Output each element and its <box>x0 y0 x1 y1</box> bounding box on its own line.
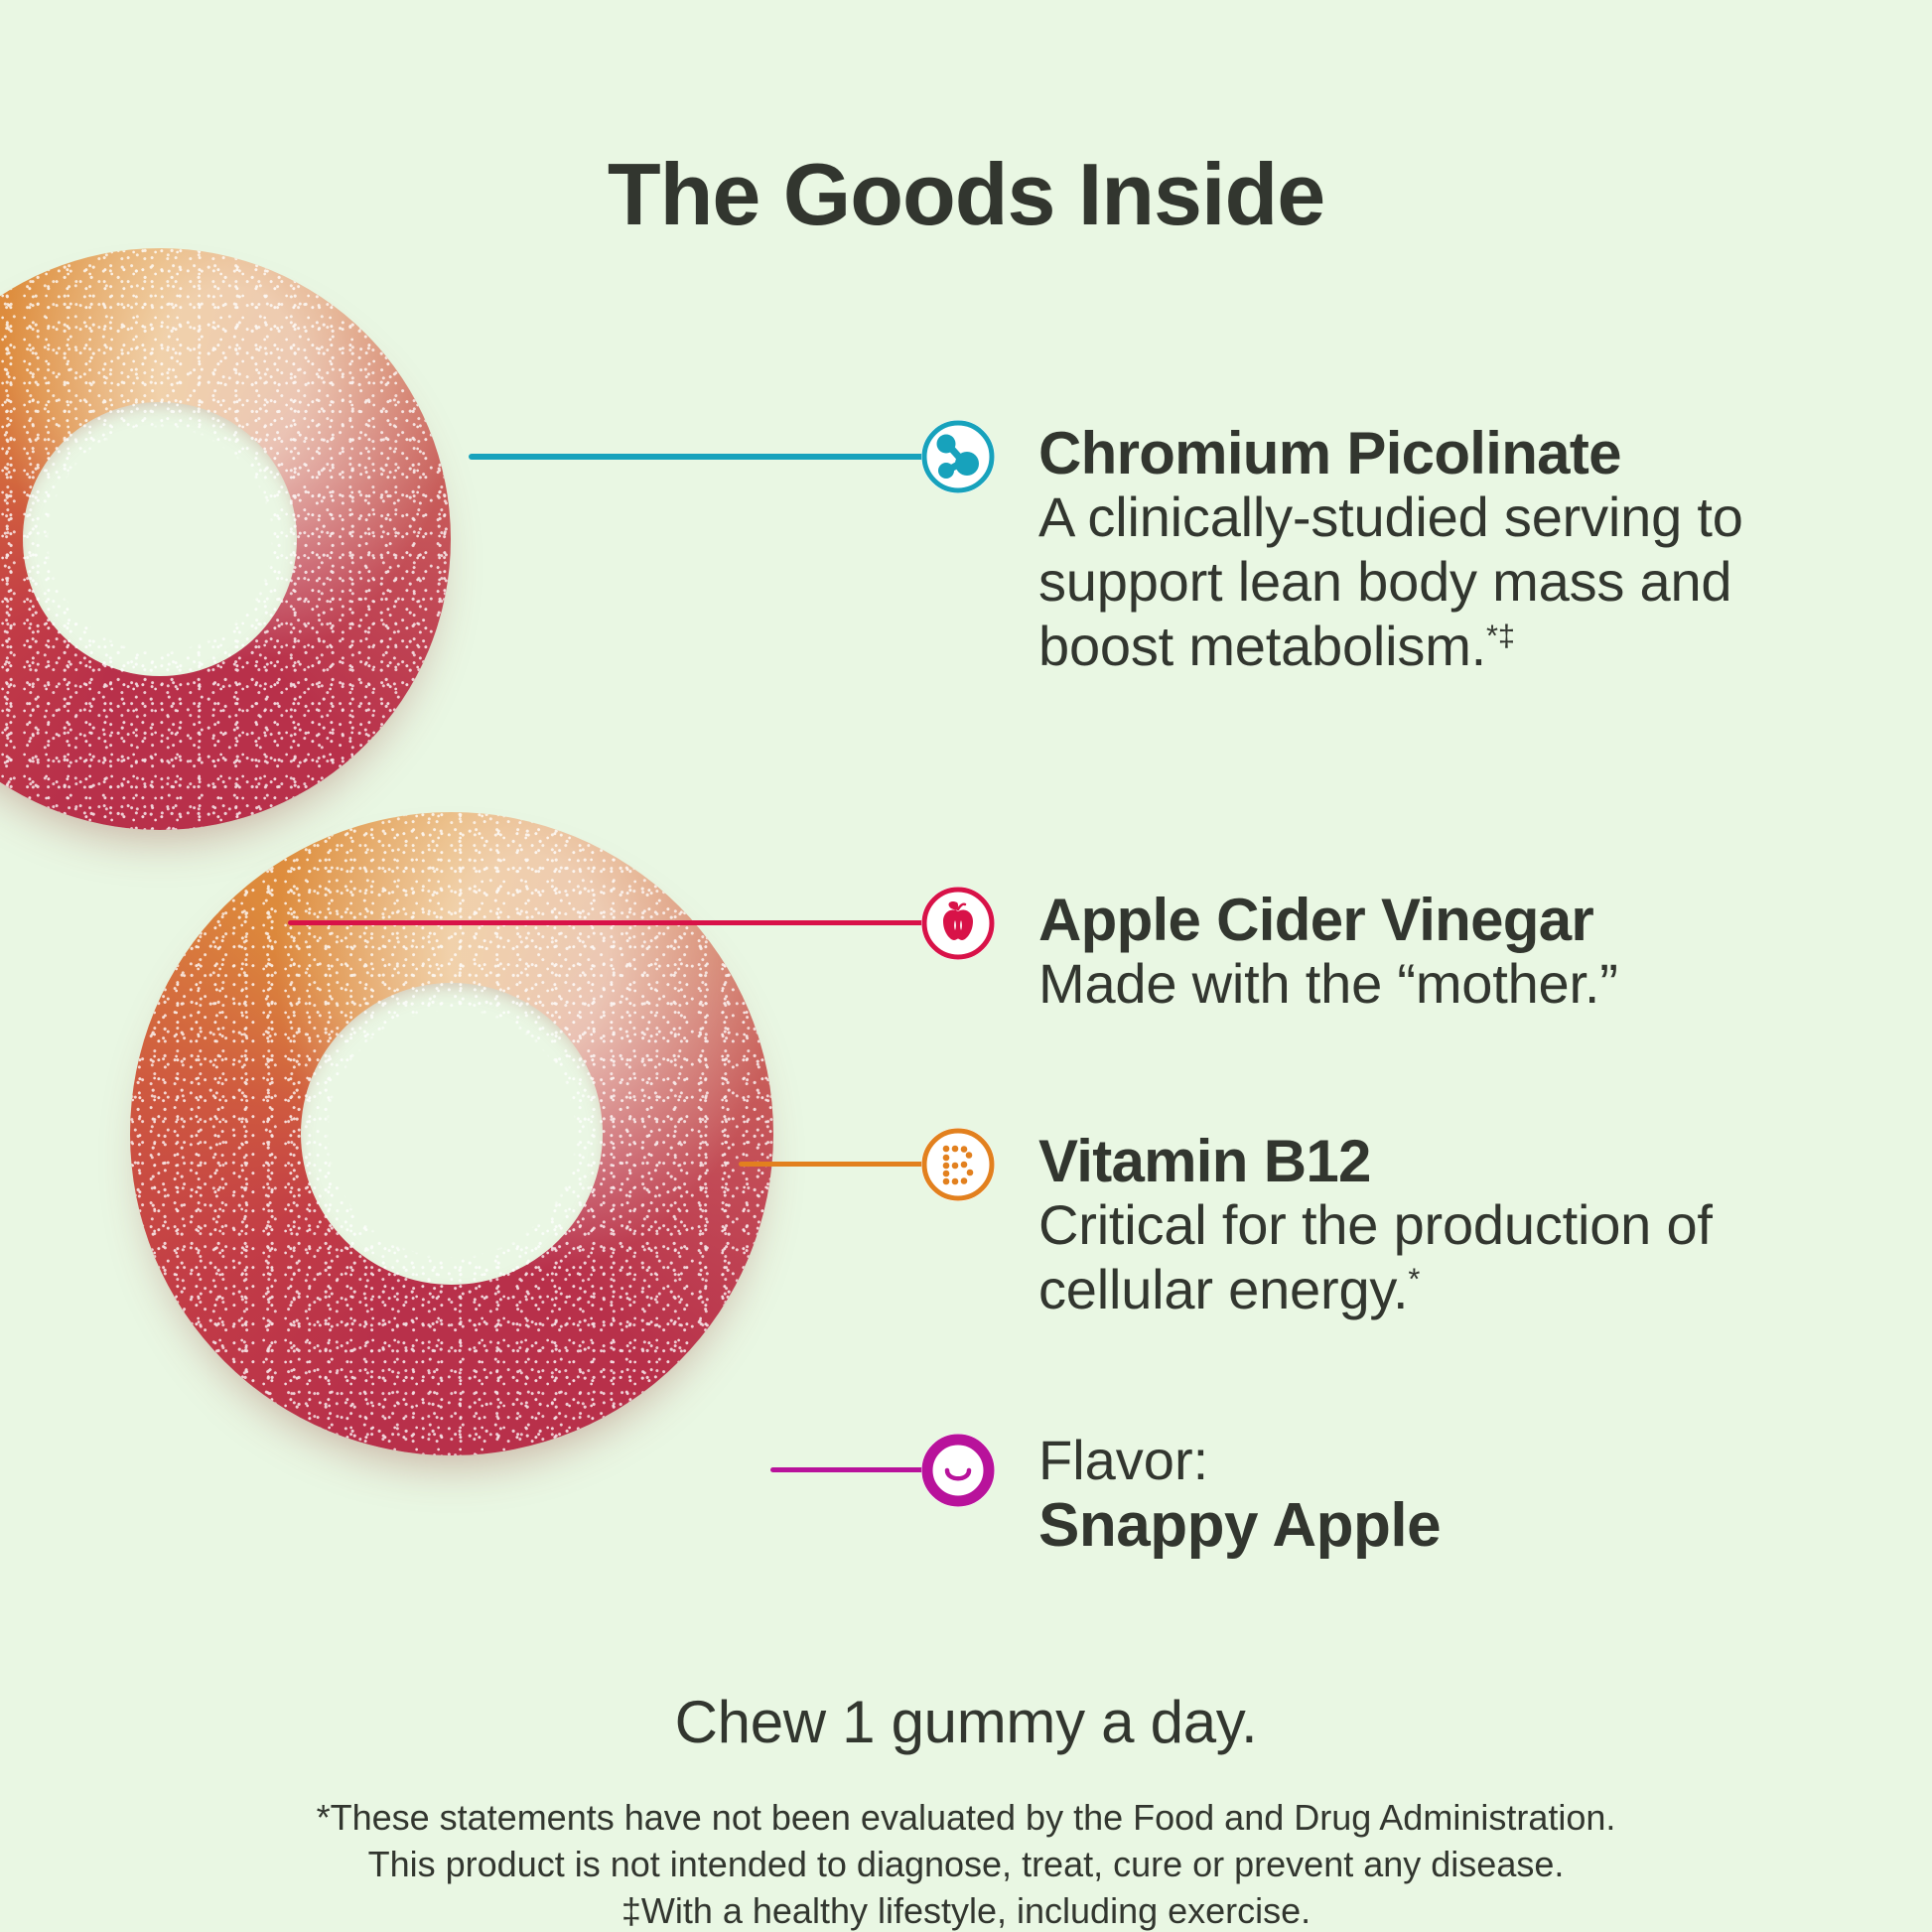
callout-apple-cider-vinegar: Apple Cider Vinegar Made with the “mothe… <box>1038 889 1823 1017</box>
molecule-icon <box>921 420 995 493</box>
gummy-hole <box>23 402 296 675</box>
callout-body: Critical for the production of cellular … <box>1038 1193 1823 1322</box>
leader-line-chromium <box>469 454 925 460</box>
apple-icon <box>921 887 995 960</box>
callout-vitamin-b12: Vitamin B12 Critical for the production … <box>1038 1130 1823 1322</box>
smiley-icon <box>921 1434 995 1507</box>
page-title: The Goods Inside <box>0 151 1932 238</box>
disclaimer-line-2: This product is not intended to diagnose… <box>0 1842 1932 1888</box>
callout-heading: Apple Cider Vinegar <box>1038 889 1823 952</box>
gummy-image-bottom <box>130 812 773 1455</box>
leader-line-b12 <box>739 1162 925 1167</box>
infographic-canvas: The Goods Inside Chromium Picolinate A c… <box>0 0 1932 1932</box>
callout-heading: Vitamin B12 <box>1038 1130 1823 1193</box>
callout-body: Made with the “mother.” <box>1038 952 1823 1017</box>
callout-body: A clinically-studied serving to support … <box>1038 485 1823 679</box>
disclaimer-line-1: *These statements have not been evaluate… <box>0 1795 1932 1842</box>
flavor-label: Flavor: <box>1038 1430 1823 1491</box>
leader-line-flavor <box>770 1467 925 1472</box>
footnote-marker: * <box>1408 1261 1420 1296</box>
footnote-marker: *‡ <box>1486 618 1515 652</box>
callout-chromium-picolinate: Chromium Picolinate A clinically-studied… <box>1038 422 1823 678</box>
disclaimer: *These statements have not been evaluate… <box>0 1795 1932 1932</box>
leader-line-acv <box>288 920 925 925</box>
gummy-hole <box>301 983 604 1286</box>
gummy-image-top <box>0 248 451 830</box>
dosage-text: Chew 1 gummy a day. <box>0 1688 1932 1756</box>
callout-heading: Chromium Picolinate <box>1038 422 1823 485</box>
callout-flavor: Flavor: Snappy Apple <box>1038 1430 1823 1560</box>
flavor-value: Snappy Apple <box>1038 1491 1823 1560</box>
b-dots-icon <box>921 1128 995 1201</box>
disclaimer-line-3: ‡With a healthy lifestyle, including exe… <box>0 1888 1932 1932</box>
